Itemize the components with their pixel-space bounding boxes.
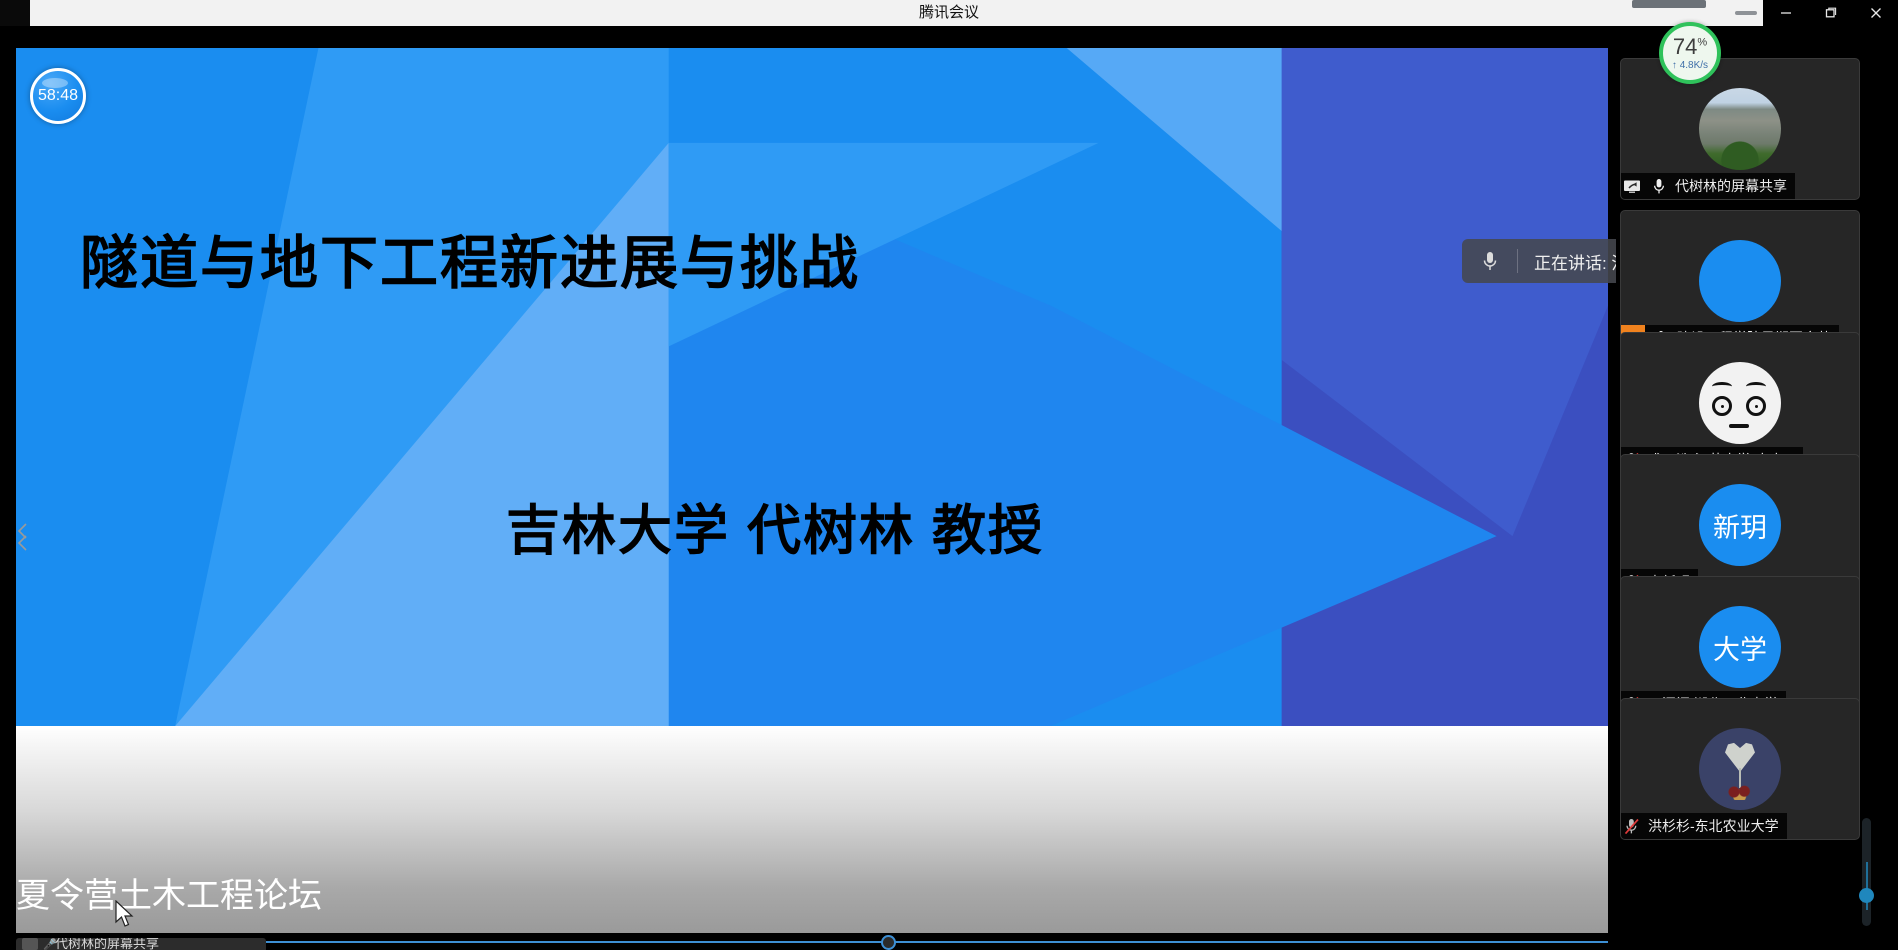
window-drag-handle[interactable] bbox=[1632, 0, 1706, 8]
avatar bbox=[1699, 728, 1781, 810]
shared-screen-stage[interactable]: 隧道与地下工程新进展与挑战 吉林大学 代树林 教授 夏令营土木工程论坛 58:4… bbox=[16, 28, 1608, 933]
forum-caption: 夏令营土木工程论坛 bbox=[16, 868, 322, 917]
slide-subtitle: 吉林大学 代树林 教授 bbox=[506, 486, 1044, 565]
presentation-slide: 隧道与地下工程新进展与挑战 吉林大学 代树林 教授 bbox=[16, 48, 1608, 726]
slide-title: 隧道与地下工程新进展与挑战 bbox=[80, 216, 860, 300]
close-icon[interactable] bbox=[1853, 0, 1898, 26]
app-title: 腾讯会议 bbox=[0, 0, 1898, 26]
participant-name-bar: 洪杉杉-东北农业大学 bbox=[1621, 813, 1787, 839]
emoji-eye-right bbox=[1746, 396, 1766, 416]
restore-icon[interactable] bbox=[1808, 0, 1853, 26]
participant-tile[interactable]: 代树林的屏幕共享 bbox=[1620, 58, 1860, 200]
participant-name-bar: 代树林的屏幕共享 bbox=[1621, 173, 1795, 199]
participant-tile[interactable]: 洪杉杉-东北农业大学 bbox=[1620, 698, 1860, 840]
stage-left-gutter bbox=[0, 26, 16, 950]
emoji-eye-left bbox=[1712, 396, 1732, 416]
avatar bbox=[1699, 362, 1781, 444]
avatar: 大学 bbox=[1699, 606, 1781, 688]
emoji-brow-left bbox=[1712, 382, 1732, 391]
toolbar-divider bbox=[1735, 11, 1757, 15]
participant-name: 洪杉杉-东北农业大学 bbox=[1648, 816, 1779, 836]
participant-name: 代树林的屏幕共享 bbox=[1675, 176, 1787, 196]
microphone-icon: 🎤 bbox=[43, 938, 50, 950]
slider-thumb[interactable] bbox=[881, 935, 896, 950]
window-controls bbox=[1763, 0, 1898, 26]
meeting-timer-value: 58:48 bbox=[38, 87, 78, 105]
avatar: 新玥 bbox=[1699, 484, 1781, 566]
chevron-left-icon[interactable] bbox=[16, 520, 30, 554]
meeting-window: 腾讯会议 bbox=[0, 0, 1898, 950]
participant-tile[interactable]: 建设工程学院暑期夏令营 bbox=[1620, 210, 1860, 352]
screen-share-icon bbox=[1621, 179, 1643, 194]
network-percent-value: 74 bbox=[1673, 34, 1697, 59]
network-rate: ↑ 4.8K/s bbox=[1672, 60, 1708, 71]
microphone-icon bbox=[1648, 178, 1670, 195]
participant-tile[interactable]: 大学 于添闰 湖北工业大学 bbox=[1620, 576, 1860, 718]
participant-tile[interactable]: 新玥 李新玥 bbox=[1620, 454, 1860, 596]
network-quality-indicator[interactable]: 74% ↑ 4.8K/s bbox=[1659, 22, 1721, 84]
avatar bbox=[1699, 88, 1781, 170]
taskbar-item-label: 代树林的屏幕共享 bbox=[55, 938, 159, 950]
timer-gloss-highlight bbox=[42, 78, 68, 88]
heart-decor-graphic bbox=[1727, 784, 1755, 800]
taskbar-item-screen-share[interactable]: 🎤 代树林的屏幕共享 bbox=[16, 938, 266, 950]
network-percent: 74% bbox=[1673, 36, 1707, 58]
rail-scrollbar-thumb[interactable] bbox=[1859, 888, 1874, 903]
title-bar: 腾讯会议 bbox=[0, 0, 1898, 26]
minimize-icon[interactable] bbox=[1763, 0, 1808, 26]
screen-share-icon bbox=[22, 938, 38, 950]
network-rate-value: 4.8K/s bbox=[1680, 60, 1708, 71]
percent-symbol: % bbox=[1697, 36, 1707, 48]
mouse-cursor bbox=[114, 900, 136, 930]
avatar bbox=[1699, 240, 1781, 322]
emoji-mouth bbox=[1729, 424, 1749, 428]
arrow-up-icon: ↑ bbox=[1672, 60, 1677, 71]
microphone-muted-icon bbox=[1621, 818, 1643, 835]
meeting-timer-badge[interactable]: 58:48 bbox=[30, 68, 86, 124]
emoji-brow-right bbox=[1746, 382, 1766, 391]
participant-rail[interactable]: 代树林的屏幕共享 bbox=[1616, 28, 1898, 950]
microphone-icon bbox=[1462, 249, 1518, 273]
participant-tile[interactable]: 盛天浩-江苏大学-土木... bbox=[1620, 332, 1860, 474]
